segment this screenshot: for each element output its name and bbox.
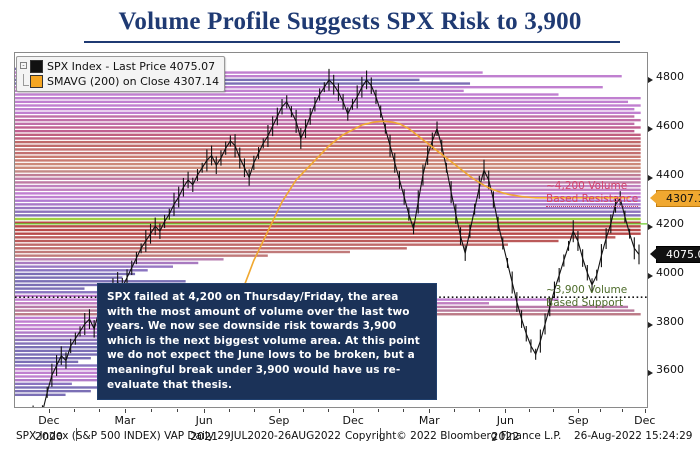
y-tick-mark [648,77,653,83]
volume-bar [15,104,641,106]
x-minor-tick [622,409,623,412]
title-underline [84,41,620,43]
y-tick-mark [648,370,653,376]
x-minor-tick [529,409,530,412]
volume-bar [15,137,641,139]
x-minor-tick [328,409,329,412]
price-tag-smavg-value: 4307.14 [666,192,700,205]
volume-bar [15,276,122,278]
volume-bar [15,353,103,355]
y-tick-mark [648,273,653,279]
volume-bar [15,225,641,227]
volume-bar [15,361,78,363]
volume-bar [15,258,224,260]
x-minor-tick [403,409,404,412]
volume-bar [15,394,66,396]
x-tick-mark [204,409,205,413]
x-tick-label-8: Dec [634,414,655,427]
price-tag-notch-smavg [650,191,658,205]
price-tag-smavg: 4307.14 [656,190,700,207]
volume-bar [15,218,641,220]
volume-bar [15,126,641,128]
y-tick-label: 4400 [656,168,684,181]
volume-bar [15,112,641,114]
y-tick-label: 4000 [656,266,684,279]
volume-bar [15,357,91,359]
volume-bar [15,163,641,165]
y-axis: 3600380040004200440046004800 [648,52,700,408]
x-minor-tick [151,409,152,412]
volume-bar [15,273,135,275]
x-tick-mark [645,409,646,413]
volume-bar [15,211,641,213]
x-tick-label-3: Sep [269,414,290,427]
x-minor-tick [303,409,304,412]
volume-bar [15,342,110,344]
x-tick-mark [578,409,579,413]
x-tick-mark [353,409,354,413]
price-tag-notch-last [650,247,658,261]
x-minor-tick [177,409,178,412]
y-tick-label: 4600 [656,119,684,132]
y-tick-label: 3800 [656,315,684,328]
volume-bar [15,236,615,238]
volume-bar [15,232,641,234]
y-tick-label: 3600 [656,363,684,376]
x-tick-label-4: Dec [343,414,364,427]
volume-bar [15,159,641,161]
volume-bar [15,101,628,103]
y-tick-mark [648,322,653,328]
legend-swatch-spx [30,60,43,73]
volume-bar [15,262,198,264]
annotation-support: ~3,900 Volume Based Support [546,284,627,310]
volume-bar [15,148,641,150]
x-minor-tick [74,409,75,412]
collapse-box-icon[interactable]: - [20,59,29,74]
legend-row-spx[interactable]: - SPX Index - Last Price 4075.07 [20,59,219,74]
volume-bar [15,240,559,242]
volume-bar [15,167,641,169]
volume-bar [15,130,634,132]
tree-elbow-icon [20,74,29,89]
x-tick-mark [279,409,280,413]
price-tag-last: 4075.07 [656,246,700,263]
x-minor-tick [378,409,379,412]
volume-bar [15,141,641,143]
volume-bar [15,123,634,125]
volume-bar [15,134,641,136]
volume-bar [15,170,641,172]
legend-label-smavg: SMAVG (200) on Close 4307.14 [47,75,219,88]
x-tick-label-2: Jun [196,414,213,427]
x-minor-tick [479,409,480,412]
page-title: Volume Profile Suggests SPX Risk to 3,90… [0,8,700,36]
x-tick-mark [49,409,50,413]
volume-bar [15,174,641,176]
footer-source: SPX Index (S&P 500 INDEX) VAP Daily 29JU… [16,430,341,442]
x-tick-label-5: Mar [419,414,440,427]
volume-bar [15,390,91,392]
y-tick-label: 4800 [656,70,684,83]
y-tick-mark [648,224,653,230]
y-tick-mark [648,126,653,132]
annotation-resistance: ~4,200 Volume Based Resistance [546,180,638,207]
volume-bar [15,156,641,158]
volume-bar [15,97,641,99]
chart-legend[interactable]: - SPX Index - Last Price 4075.07 SMAVG (… [16,56,225,92]
legend-row-smavg[interactable]: SMAVG (200) on Close 4307.14 [20,74,219,89]
volume-bar [15,251,350,253]
x-tick-label-1: Mar [115,414,136,427]
x-minor-tick [600,409,601,412]
volume-bar [15,383,72,385]
volume-bar [15,207,641,209]
y-tick-mark [648,175,653,181]
volume-bar [15,229,641,231]
x-minor-tick [99,409,100,412]
analysis-callout-box: SPX failed at 4,200 on Thursday/Friday, … [97,283,437,400]
volume-bar [15,119,641,121]
legend-swatch-smavg [30,75,43,88]
legend-label-spx: SPX Index - Last Price 4075.07 [47,60,215,73]
volume-bar [15,379,97,381]
x-tick-mark [125,409,126,413]
price-tag-last-value: 4075.07 [666,248,700,261]
volume-bar [15,287,85,289]
analysis-callout-text: SPX failed at 4,200 on Thursday/Friday, … [107,290,428,392]
annotation-resistance-line2: Based Resistance [546,193,638,207]
x-tick-label-0: Dec [38,414,59,427]
x-tick-label-6: Jun [497,414,514,427]
x-minor-tick [553,409,554,412]
x-minor-tick [454,409,455,412]
chart-footer: SPX Index (S&P 500 INDEX) VAP Daily 29JU… [0,430,700,446]
footer-copyright: Copyright© 2022 Bloomberg Finance L.P. [345,430,561,442]
x-tick-label-7: Sep [568,414,589,427]
x-tick-mark [505,409,506,413]
annotation-support-line2: Based Support [546,297,627,310]
volume-bar [15,254,268,256]
volume-bar [15,108,634,110]
annotation-resistance-line1: ~4,200 Volume [546,180,638,193]
volume-bar [15,152,641,154]
annotation-support-line1: ~3,900 Volume [546,284,627,297]
x-minor-tick [229,409,230,412]
volume-bar [15,115,634,117]
volume-bar [15,247,407,249]
y-tick-label: 4200 [656,217,684,230]
footer-timestamp: 26-Aug-2022 15:24:29 [574,430,692,442]
x-tick-mark [429,409,430,413]
volume-bar [15,265,173,267]
x-minor-tick [254,409,255,412]
volume-bar [15,214,641,216]
volume-bar [15,269,148,271]
